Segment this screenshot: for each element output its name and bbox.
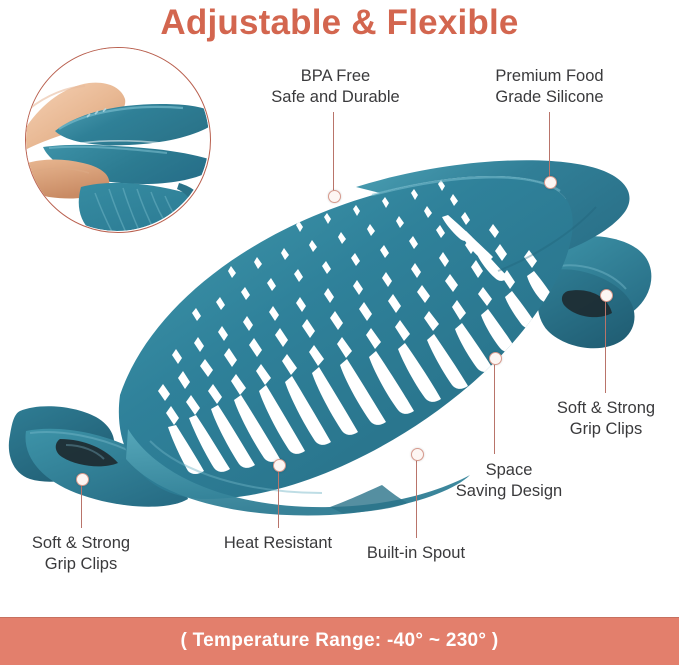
built-in-spout-shape <box>330 485 408 513</box>
infographic-root: Adjustable & Flexible <box>0 0 679 665</box>
leader-dot-bpa-free <box>328 190 341 203</box>
leader-line-premium-silicone <box>549 112 550 182</box>
leader-dot-premium-silicone <box>544 176 557 189</box>
callout-built-in-spout-line-1: Built-in Spout <box>343 543 489 564</box>
leader-dot-grip-clips-left <box>76 473 89 486</box>
leader-dot-space-saving <box>489 352 502 365</box>
callout-bpa-free: BPA Free Safe and Durable <box>263 66 408 108</box>
page-title: Adjustable & Flexible <box>0 0 679 46</box>
callout-heat-resistant-line-1: Heat Resistant <box>205 533 351 554</box>
callout-space-saving-line-1: Space <box>429 460 589 481</box>
leader-line-grip-clips-left <box>81 484 82 528</box>
callout-space-saving-line-2: Saving Design <box>429 481 589 502</box>
callout-bpa-free-line-1: BPA Free <box>263 66 408 87</box>
leader-line-heat-resistant <box>278 470 279 528</box>
callout-grip-clips-right: Soft & Strong Grip Clips <box>533 398 679 440</box>
leader-dot-grip-clips-right <box>600 289 613 302</box>
leader-dot-built-in-spout <box>411 448 424 461</box>
callout-premium-silicone: Premium Food Grade Silicone <box>477 66 622 108</box>
callout-grip-clips-left-line-2: Grip Clips <box>8 554 154 575</box>
temperature-range-text: ( Temperature Range: -40° ~ 230° ) <box>180 630 498 652</box>
leader-line-bpa-free <box>333 112 334 196</box>
callout-built-in-spout: Built-in Spout <box>343 543 489 564</box>
callout-grip-clips-left: Soft & Strong Grip Clips <box>8 533 154 575</box>
leader-line-space-saving <box>494 362 495 454</box>
callout-grip-clips-right-line-1: Soft & Strong <box>533 398 679 419</box>
callout-premium-silicone-line-1: Premium Food <box>477 66 622 87</box>
callout-grip-clips-right-line-2: Grip Clips <box>533 419 679 440</box>
callout-premium-silicone-line-2: Grade Silicone <box>477 87 622 108</box>
temperature-range-banner: ( Temperature Range: -40° ~ 230° ) <box>0 617 679 665</box>
callout-grip-clips-left-line-1: Soft & Strong <box>8 533 154 554</box>
leader-dot-heat-resistant <box>273 459 286 472</box>
banner-top-divider <box>0 617 679 618</box>
leader-line-grip-clips-right <box>605 299 606 393</box>
callout-bpa-free-line-2: Safe and Durable <box>263 87 408 108</box>
callout-heat-resistant: Heat Resistant <box>205 533 351 554</box>
callout-space-saving: Space Saving Design <box>429 460 589 502</box>
leader-line-built-in-spout <box>416 459 417 538</box>
